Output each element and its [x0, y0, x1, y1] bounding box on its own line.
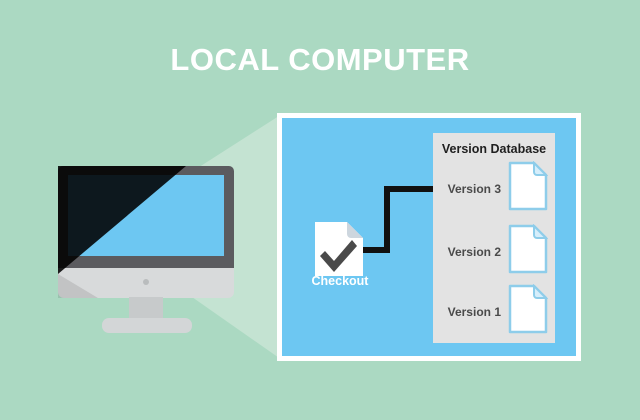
- version-row-3[interactable]: Version 3: [433, 161, 555, 219]
- version-label-2: Version 2: [433, 245, 501, 259]
- version-document-icon-3[interactable]: [508, 161, 548, 211]
- diagram-canvas: LOCAL COMPUTER Checkout Version Database…: [0, 0, 640, 420]
- monitor-camera-dot: [143, 279, 149, 285]
- version-row-2[interactable]: Version 2: [433, 224, 555, 282]
- version-row-1[interactable]: Version 1: [433, 284, 555, 342]
- version-label-1: Version 1: [433, 305, 501, 319]
- monitor-stand-base: [102, 318, 192, 333]
- version-database-title: Version Database: [433, 142, 555, 156]
- monitor-screen: [68, 175, 224, 256]
- page-title: LOCAL COMPUTER: [0, 42, 640, 78]
- checkout-label: Checkout: [290, 274, 390, 288]
- version-document-icon-2[interactable]: [508, 224, 548, 274]
- version-document-icon-1[interactable]: [508, 284, 548, 334]
- version-label-3: Version 3: [433, 182, 501, 196]
- checkout-document-icon[interactable]: [313, 220, 365, 278]
